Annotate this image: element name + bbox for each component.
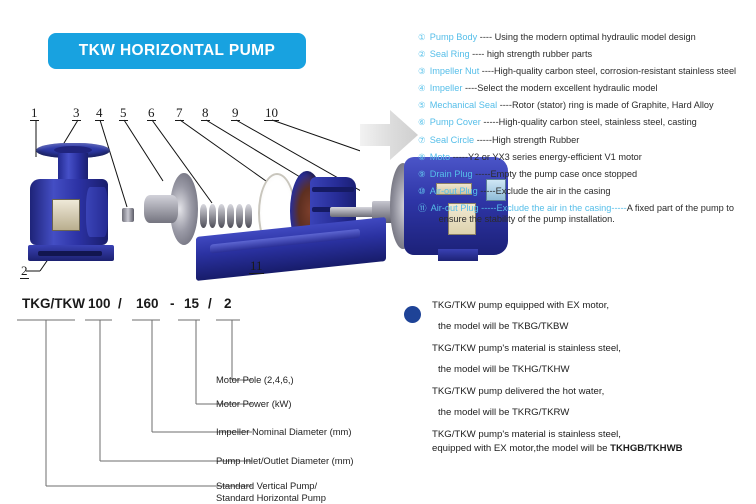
legend-desc-6: High-quality carbon steel, stainless ste… [499, 117, 697, 127]
legend-desc-8: Y2 or YX3 series energy-efficient V1 mot… [468, 152, 642, 162]
callout-10: 10 [264, 105, 279, 121]
legend-item-4: ④ Impeller ----Select the modern excelle… [418, 83, 756, 95]
callout-5: 5 [119, 105, 128, 121]
callout-4: 4 [95, 105, 104, 121]
impeller-nut-part [122, 208, 134, 222]
nomenclature-leader-lines [0, 314, 400, 504]
code-sep-1: / [118, 296, 122, 311]
legend-sep-6: ----- [481, 117, 499, 127]
pump-foot-base [28, 245, 114, 261]
legend-sep-11: ----- [479, 203, 497, 213]
legend-desc-4: Select the modern excellent hydraulic mo… [477, 83, 657, 93]
pump-casing-face [86, 187, 108, 237]
legend-sep-5: ---- [497, 100, 512, 110]
code-part-inlet: 100 [88, 296, 111, 311]
callout-8: 8 [201, 105, 210, 121]
note-line-4: the model will be TKHG/TKHW [432, 364, 756, 376]
legend-item-6: ⑥ Pump Cover -----High-quality carbon st… [418, 117, 756, 129]
legend-label-7: Seal Circle [430, 135, 474, 145]
legend-desc-3: High-quality carbon steel, corrosion-res… [494, 66, 736, 76]
note-line-8: equipped with EX motor,the model will be… [432, 443, 756, 455]
legend-label-3: Impeller Nut [430, 66, 480, 76]
legend-sep-3: ---- [479, 66, 494, 76]
model-variant-notes: TKG/TKW pump equipped with EX motor, the… [404, 300, 756, 464]
legend-sep-9: ----- [473, 169, 491, 179]
note-line-8-prefix: equipped with EX motor,the model will be [432, 443, 610, 454]
legend-item-3: ③ Impeller Nut ----High-quality carbon s… [418, 66, 756, 78]
legend-desc-5: Rotor (stator) ring is made of Graphite,… [512, 100, 714, 110]
nomenclature-label-standard-horiz: Standard Horizontal Pump [216, 492, 326, 504]
code-part-prefix: TKG/TKW [22, 296, 85, 311]
legend-desc-9: Empty the pump case once stopped [490, 169, 637, 179]
note-line-7: TKG/TKW pump's material is stainless ste… [432, 429, 756, 441]
callout-7: 7 [175, 105, 184, 121]
legend-number-2: ② [418, 49, 426, 60]
nomenclature-label-standard-vert: Standard Vertical Pump/ [216, 480, 317, 492]
exploded-pump-diagram: 1 2 3 4 5 6 7 8 9 10 11 [0, 95, 360, 290]
code-sep-3: / [208, 296, 212, 311]
code-sep-2: - [170, 296, 175, 311]
legend-number-11: ⑪ [418, 203, 427, 214]
legend-number-7: ⑦ [418, 135, 426, 146]
legend-item-7: ⑦ Seal Circle -----High strength Rubber [418, 135, 756, 147]
legend-label-8: Moto [430, 152, 450, 162]
callout-1: 1 [30, 105, 39, 121]
impeller-hub [144, 195, 178, 223]
legend-label-10: Air-out Plug [430, 186, 478, 196]
legend-desc-blue-11: Exclude the air in the casing----- [496, 203, 626, 213]
legend-desc-1: Using the modern optimal hydraulic model… [495, 32, 696, 42]
legend-desc-cont-11: ensure the stability of the pump install… [431, 214, 756, 226]
legend-label-4: Impeller [430, 83, 463, 93]
legend-number-6: ⑥ [418, 117, 426, 128]
code-part-pole: 2 [224, 296, 232, 311]
legend-desc-2: high strength rubber parts [487, 49, 592, 59]
legend-item-1: ① Pump Body ---- Using the modern optima… [418, 32, 756, 44]
note-line-1: TKG/TKW pump equipped with EX motor, [432, 300, 756, 312]
mechanical-seal-stack [200, 200, 256, 232]
legend-number-10: ⑩ [418, 186, 426, 197]
legend-number-4: ④ [418, 83, 426, 94]
legend-number-3: ③ [418, 66, 426, 77]
model-nomenclature: TKG/TKW 100 / 160 - 15 / 2 [0, 296, 400, 496]
callout-3: 3 [72, 105, 81, 121]
callout-9: 9 [231, 105, 240, 121]
legend-item-5: ⑤ Mechanical Seal ----Rotor (stator) rin… [418, 100, 756, 112]
motor-terminal-box [438, 249, 478, 261]
legend-desc-7: High strength Rubber [492, 135, 579, 145]
legend-number-9: ⑨ [418, 169, 426, 180]
pump-spec-sheet: TKW HORIZONTAL PUMP [0, 0, 756, 500]
nomenclature-label-impeller-dia: Impeller Nominal Diameter (mm) [216, 426, 351, 438]
legend-label-1: Pump Body [430, 32, 478, 42]
legend-number-1: ① [418, 32, 426, 43]
note-line-6: the model will be TKRG/TKRW [432, 407, 756, 419]
callout-2: 2 [20, 263, 29, 279]
legend-item-10: ⑩ Air-out Plug -----Exclude the air in t… [418, 186, 756, 198]
legend-item-9: ⑨ Drain Plug -----Empty the pump case on… [418, 169, 756, 181]
legend-sep-10: ----- [478, 186, 496, 196]
legend-number-8: ⑧ [418, 152, 426, 163]
legend-label-2: Seal Ring [430, 49, 470, 59]
impeller-part [140, 173, 200, 245]
note-line-3: TKG/TKW pump's material is stainless ste… [432, 343, 756, 355]
legend-sep-7: ----- [474, 135, 492, 145]
legend-number-5: ⑤ [418, 100, 426, 111]
legend-label-11: Air-out Plug [431, 203, 479, 213]
code-part-impeller: 160 [136, 296, 159, 311]
callout-6: 6 [147, 105, 156, 121]
note-line-2: the model will be TKBG/TKBW [432, 321, 756, 333]
callout-11: 11 [249, 258, 264, 274]
model-code: TKG/TKW 100 / 160 - 15 / 2 [0, 296, 400, 316]
legend-desc-10: Exclude the air in the casing [496, 186, 611, 196]
legend-item-2: ② Seal Ring ---- high strength rubber pa… [418, 49, 756, 61]
legend-desc-11: A fixed part of the pump to [627, 203, 734, 213]
page-title: TKW HORIZONTAL PUMP [79, 42, 275, 60]
pump-nameplate [52, 199, 80, 231]
legend-item-8: ⑧ Moto -----Y2 or YX3 series energy-effi… [418, 152, 756, 164]
legend-label-9: Drain Plug [430, 169, 473, 179]
legend-sep-4: ---- [462, 83, 477, 93]
note-line-8-model: TKHGB/TKHWB [610, 443, 682, 454]
arrow-right-icon [358, 108, 420, 162]
bullet-icon [404, 306, 421, 323]
nomenclature-label-motor-power: Motor Power (kW) [216, 398, 292, 410]
legend-sep-1: ---- [477, 32, 494, 42]
note-line-5: TKG/TKW pump delivered the hot water, [432, 386, 756, 398]
legend-sep-2: ---- [470, 49, 487, 59]
nomenclature-label-inlet-outlet: Pump Inlet/Outlet Diameter (mm) [216, 455, 354, 467]
legend-label-5: Mechanical Seal [430, 100, 497, 110]
legend-sep-8: ----- [450, 152, 468, 162]
nomenclature-label-motor-pole: Motor Pole (2,4,6,) [216, 374, 294, 386]
code-part-power: 15 [184, 296, 199, 311]
parts-legend-list: ① Pump Body ---- Using the modern optima… [418, 32, 756, 232]
title-banner: TKW HORIZONTAL PUMP [48, 33, 306, 69]
legend-label-6: Pump Cover [430, 117, 481, 127]
legend-item-11: ⑪ Air-out Plug -----Exclude the air in t… [418, 203, 756, 226]
notes-lines: TKG/TKW pump equipped with EX motor, the… [432, 300, 756, 455]
